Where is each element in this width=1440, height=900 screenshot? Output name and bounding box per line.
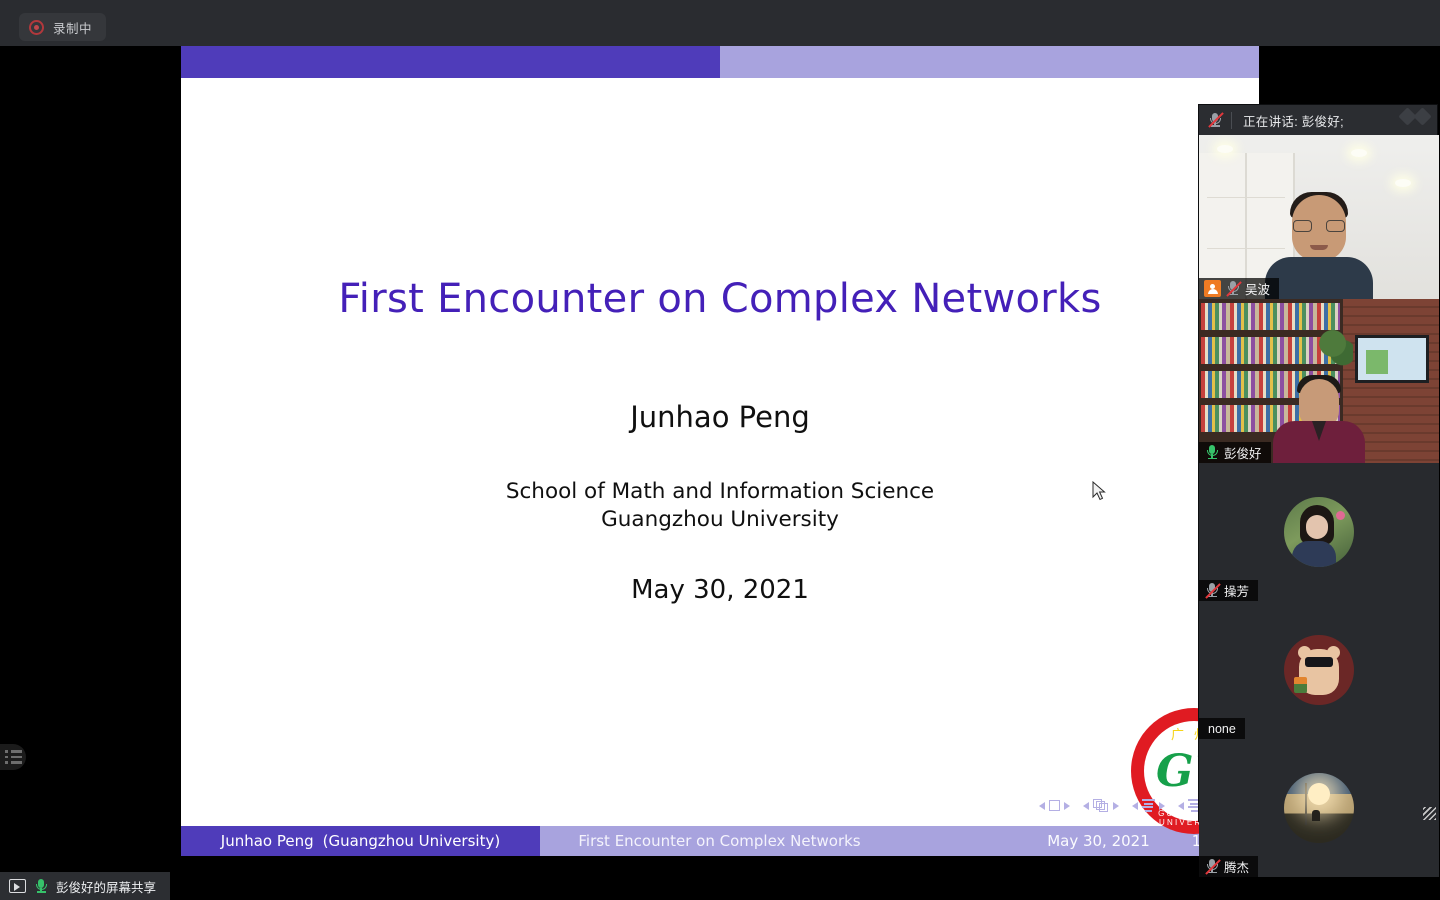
participant-name: 操芳 — [1224, 581, 1249, 600]
screen-share-icon — [9, 879, 26, 893]
participant-tile[interactable]: 吴波 — [1199, 135, 1439, 299]
avatar — [1284, 635, 1354, 705]
prev-section-arrow-icon[interactable] — [1178, 802, 1184, 810]
mic-muted-icon[interactable] — [1204, 858, 1220, 875]
next-subsection-arrow-icon[interactable] — [1159, 802, 1165, 810]
host-badge-icon — [1204, 280, 1221, 297]
slide-footer-title: First Encounter on Complex Networks — [540, 826, 899, 856]
slide-header-left — [181, 46, 720, 78]
slide-footer-author-block: Junhao Peng (Guangzhou University) — [181, 826, 540, 856]
list-row — [5, 761, 26, 764]
participant-name: 彭俊好 — [1224, 443, 1262, 462]
mouse-cursor-icon — [1092, 481, 1106, 501]
mic-muted-icon[interactable] — [1204, 582, 1220, 599]
participant-name: none — [1208, 722, 1236, 736]
participant-tile[interactable]: 腾杰 — [1199, 739, 1439, 877]
list-row — [5, 756, 26, 759]
record-dot-icon — [29, 20, 44, 35]
resize-handle-icon[interactable] — [1423, 807, 1436, 820]
screen-share-status-bar[interactable]: 彭俊好的屏幕共享 — [0, 872, 170, 900]
active-speaker-label: 正在讲话: 彭俊好; — [1243, 111, 1344, 130]
participant-tile[interactable]: none — [1199, 601, 1439, 739]
participant-name-badge: 操芳 — [1199, 580, 1258, 601]
recording-indicator[interactable]: 录制中 — [19, 13, 106, 41]
participant-tile[interactable]: 操芳 — [1199, 463, 1439, 601]
participants-video-panel[interactable]: 正在讲话: 彭俊好; — [1198, 104, 1438, 822]
header-divider — [1231, 112, 1232, 129]
recording-label: 录制中 — [53, 18, 92, 37]
avatar — [1284, 773, 1354, 843]
prev-subsection-arrow-icon[interactable] — [1132, 802, 1138, 810]
next-frame-arrow-icon[interactable] — [1113, 802, 1119, 810]
mic-muted-icon[interactable] — [1225, 280, 1241, 297]
mic-on-icon[interactable] — [33, 878, 49, 895]
next-slide-arrow-icon[interactable] — [1064, 802, 1070, 810]
slide-header-bar — [181, 46, 1259, 78]
slide-footer-bar: Junhao Peng (Guangzhou University) First… — [181, 826, 1259, 856]
list-menu-icon[interactable] — [0, 744, 26, 770]
participant-name: 腾杰 — [1224, 857, 1249, 876]
slide-title: First Encounter on Complex Networks — [181, 276, 1259, 322]
prev-slide-arrow-icon[interactable] — [1039, 802, 1045, 810]
list-row — [5, 750, 26, 753]
slide-footer-author: Junhao Peng — [221, 832, 314, 850]
frames-stack-icon[interactable] — [1093, 799, 1109, 812]
slide-body: First Encounter on Complex Networks Junh… — [181, 78, 1259, 826]
participant-name-badge: 彭俊好 — [1199, 442, 1271, 463]
prev-frame-arrow-icon[interactable] — [1083, 802, 1089, 810]
collapse-panel-icon[interactable] — [1401, 110, 1429, 123]
slide-footer-institution: (Guangzhou University) — [323, 832, 501, 850]
shared-screen-slide: First Encounter on Complex Networks Junh… — [181, 46, 1259, 856]
participant-tile-active-speaker[interactable]: 彭俊好 — [1199, 299, 1439, 463]
mic-on-icon[interactable] — [1204, 444, 1220, 461]
participant-name-badge: 吴波 — [1199, 278, 1279, 299]
camera-feed — [1199, 135, 1439, 299]
frame-nav-icon[interactable] — [1083, 799, 1119, 812]
subsection-nav-icon[interactable] — [1132, 799, 1165, 812]
camera-feed — [1199, 299, 1439, 463]
screen-share-label: 彭俊好的屏幕共享 — [56, 877, 156, 896]
mic-muted-icon[interactable] — [1207, 112, 1223, 129]
participant-name-badge: 腾杰 — [1199, 856, 1258, 877]
os-top-bar: 录制中 — [0, 0, 1440, 46]
subsection-lines-icon[interactable] — [1142, 799, 1155, 812]
screen-root: 录制中 First Encounter on Complex Networks … — [0, 0, 1440, 900]
slide-footer-date: May 30, 2021 — [1047, 832, 1150, 850]
slide-date: May 30, 2021 — [181, 575, 1259, 605]
slide-square-icon[interactable] — [1049, 800, 1060, 811]
slide-author: Junhao Peng — [181, 400, 1259, 434]
slide-nav-icon[interactable] — [1039, 800, 1070, 811]
slide-header-right — [720, 46, 1259, 78]
video-panel-header: 正在讲话: 彭俊好; — [1199, 105, 1437, 135]
avatar — [1284, 497, 1354, 567]
participant-name: 吴波 — [1245, 279, 1270, 298]
participant-name-badge: none — [1199, 718, 1245, 739]
slide-affiliation-line2: Guangzhou University — [181, 506, 1259, 534]
